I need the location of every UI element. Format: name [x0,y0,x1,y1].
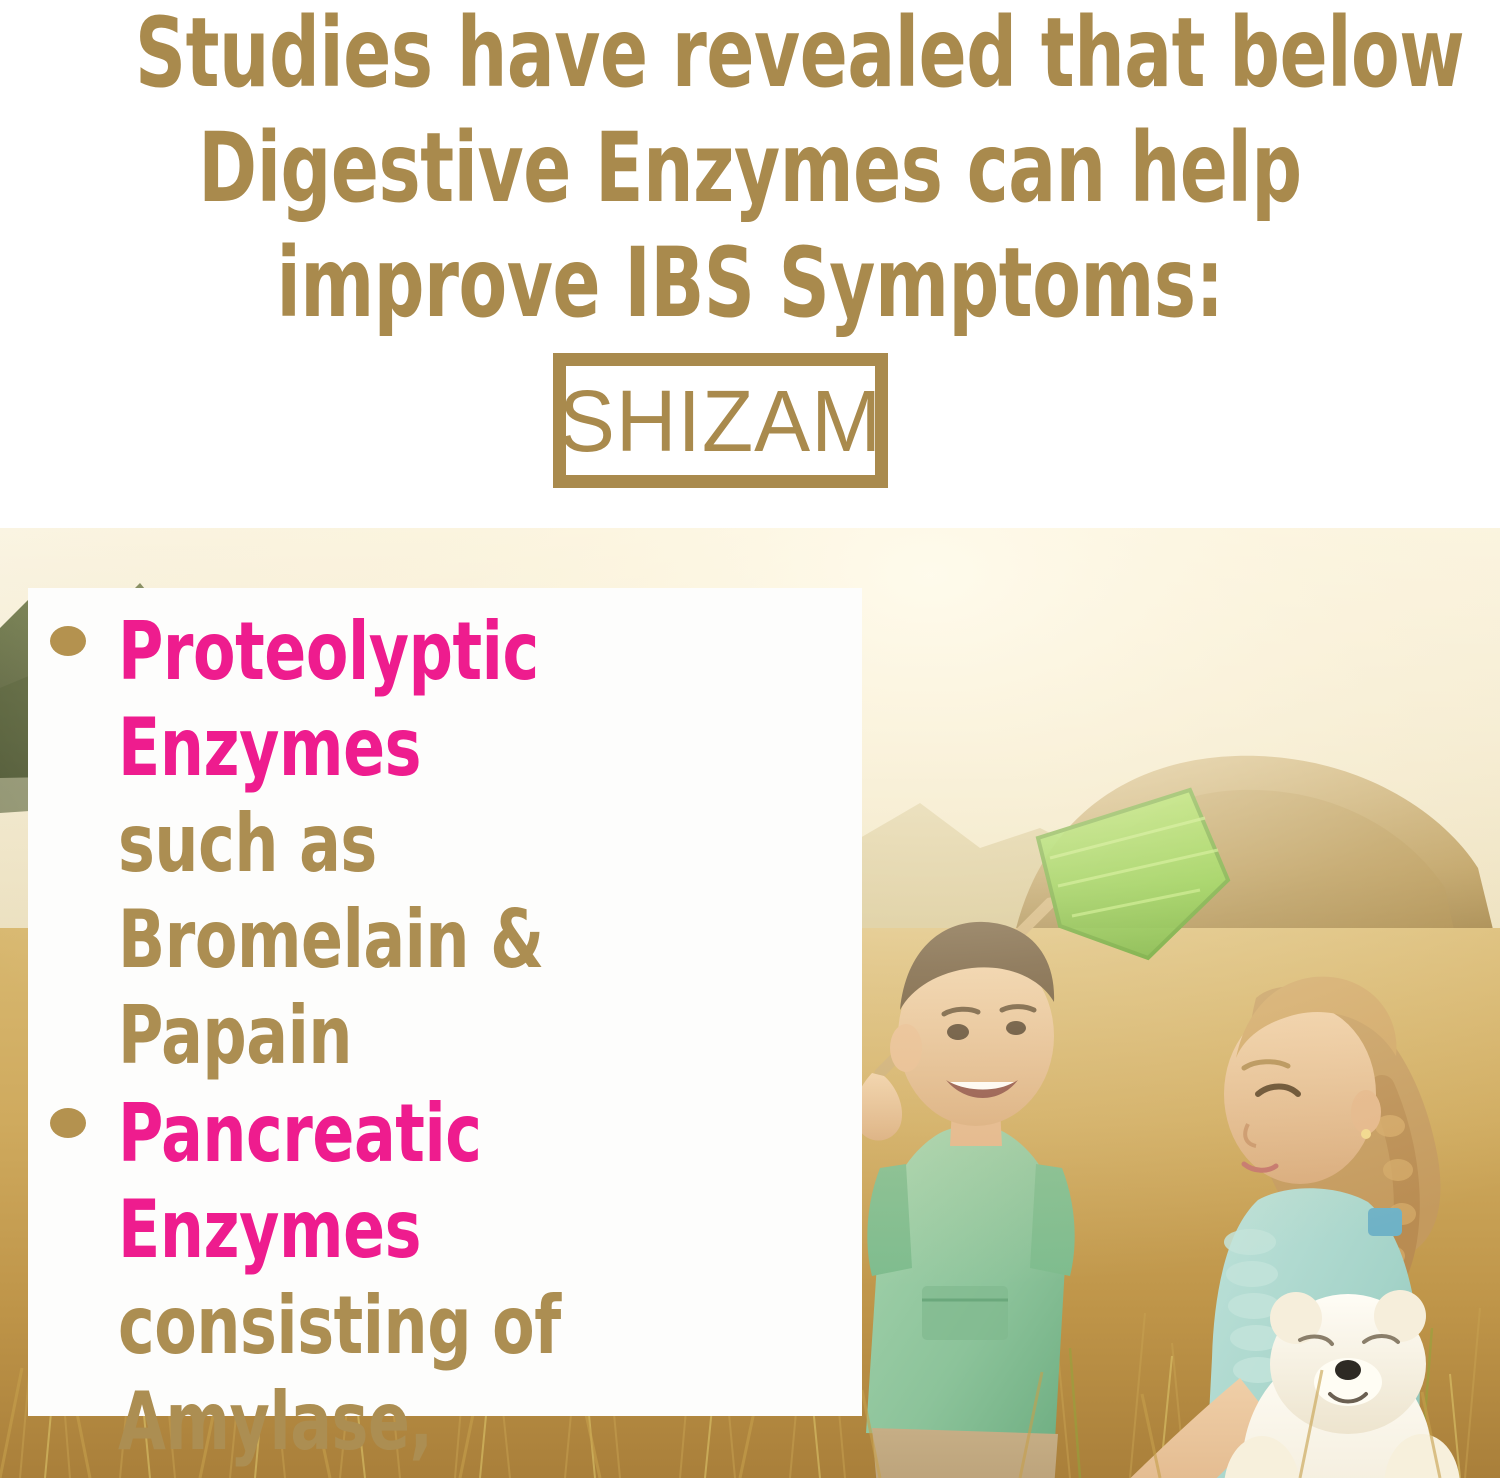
bullet-line: such as Bromelain & [118,796,748,988]
brand-name: SHIZAM [559,377,882,464]
bullet-dot-icon [50,1108,86,1138]
page-title: Studies have revealed that below Digesti… [135,0,1365,341]
infographic-page: Studies have revealed that below Digesti… [0,0,1500,1478]
header-section: Studies have revealed that below Digesti… [0,0,1500,528]
bullet-line: Lipase & Protease [118,1470,748,1478]
bullet-line: Papain [118,988,748,1084]
headline-line-2: Digestive Enzymes can help [135,111,1365,226]
bullet-line: Proteolyptic Enzymes [118,604,748,796]
headline-line-3: improve IBS Symptoms: [135,226,1365,341]
bullet-dot-icon [50,626,86,656]
shizam-logo: SHIZAM [553,353,888,488]
list-item: Pancreatic Enzymes consisting of Amylase… [40,1086,850,1478]
enzyme-list-panel: Proteolyptic Enzymes such as Bromelain &… [28,588,862,1416]
headline-line-1: Studies have revealed that below [135,0,1365,111]
bullet-line: consisting of Amylase, [118,1278,748,1470]
list-item: Proteolyptic Enzymes such as Bromelain &… [40,604,850,1084]
bullet-line: Pancreatic Enzymes [118,1086,748,1278]
enzyme-bullet-list: Proteolyptic Enzymes such as Bromelain &… [40,604,850,1478]
